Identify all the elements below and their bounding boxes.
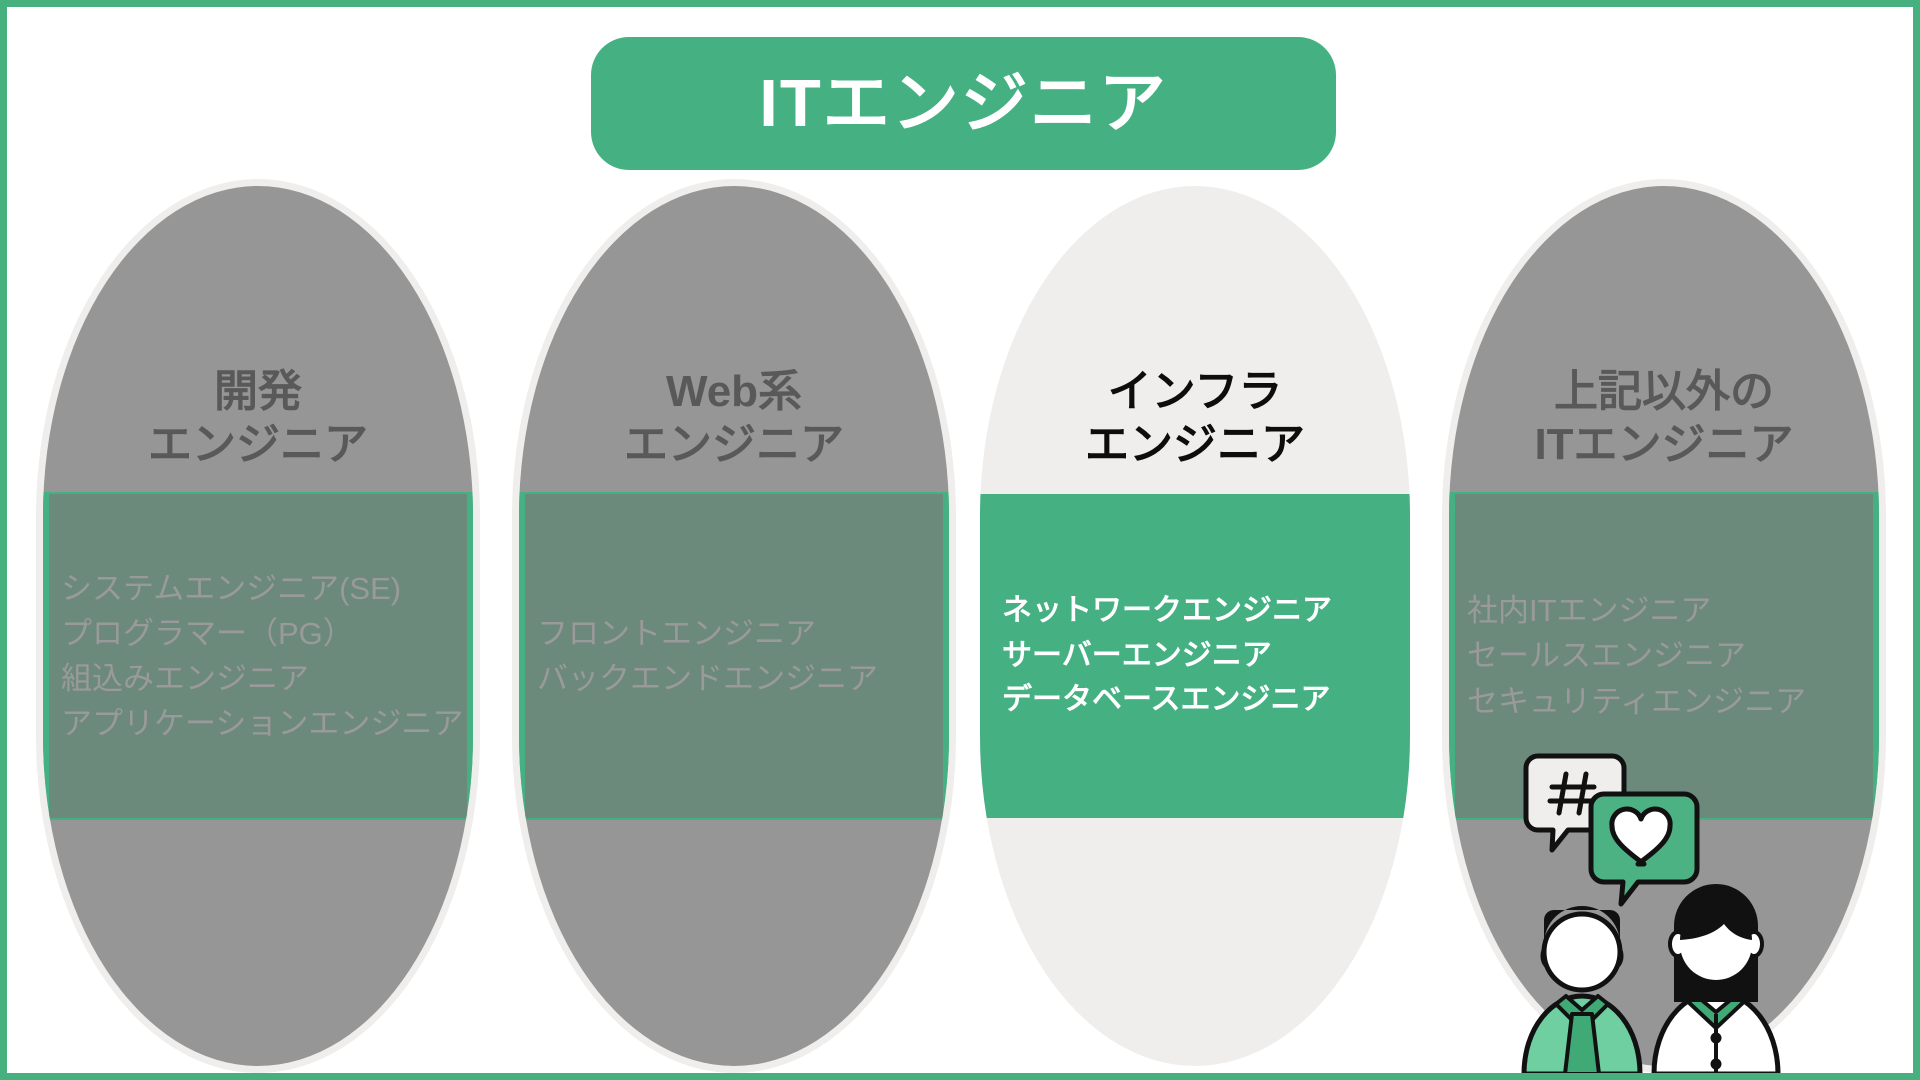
list-item: データベースエンジニア (1002, 678, 1400, 722)
list-item: プログラマー（PG） (61, 611, 463, 656)
list-item: アプリケーションエンジニア (61, 701, 463, 746)
heart-speech-bubble (1591, 794, 1697, 904)
list-item: 組込みエンジニア (61, 656, 463, 701)
diagram-canvas: ITエンジニア 開発 エンジニア システムエンジニア(SE) プログラマー（PG… (0, 0, 1920, 1080)
list-item: ネットワークエンジニア (1002, 589, 1400, 633)
column-item-list: システムエンジニア(SE) プログラマー（PG） 組込みエンジニア アプリケーシ… (49, 494, 467, 818)
list-item: バックエンドエンジニア (537, 656, 939, 701)
page-title: ITエンジニア (759, 70, 1168, 137)
list-item: セキュリティエンジニア (1467, 679, 1869, 724)
column-item-list: ネットワークエンジニア サーバーエンジニア データベースエンジニア (986, 494, 1404, 818)
category-column-development[interactable]: 開発 エンジニア システムエンジニア(SE) プログラマー（PG） 組込みエンジ… (43, 186, 473, 1066)
list-item: 社内ITエンジニア (1467, 588, 1869, 633)
page-title-banner: ITエンジニア (591, 37, 1336, 170)
column-item-list: フロントエンジニア バックエンドエンジニア (525, 494, 943, 818)
list-item: システムエンジニア(SE) (61, 566, 463, 611)
businesswoman-avatar (1654, 884, 1778, 1074)
category-column-infrastructure[interactable]: インフラ エンジニア ネットワークエンジニア サーバーエンジニア データベースエ… (980, 186, 1410, 1066)
people-illustration (1514, 744, 1914, 1074)
list-item: フロントエンジニア (537, 611, 939, 656)
businessman-avatar (1524, 906, 1640, 1074)
list-item: セールスエンジニア (1467, 633, 1869, 678)
category-column-web[interactable]: Web系 エンジニア フロントエンジニア バックエンドエンジニア (519, 186, 949, 1066)
list-item: サーバーエンジニア (1002, 634, 1400, 678)
